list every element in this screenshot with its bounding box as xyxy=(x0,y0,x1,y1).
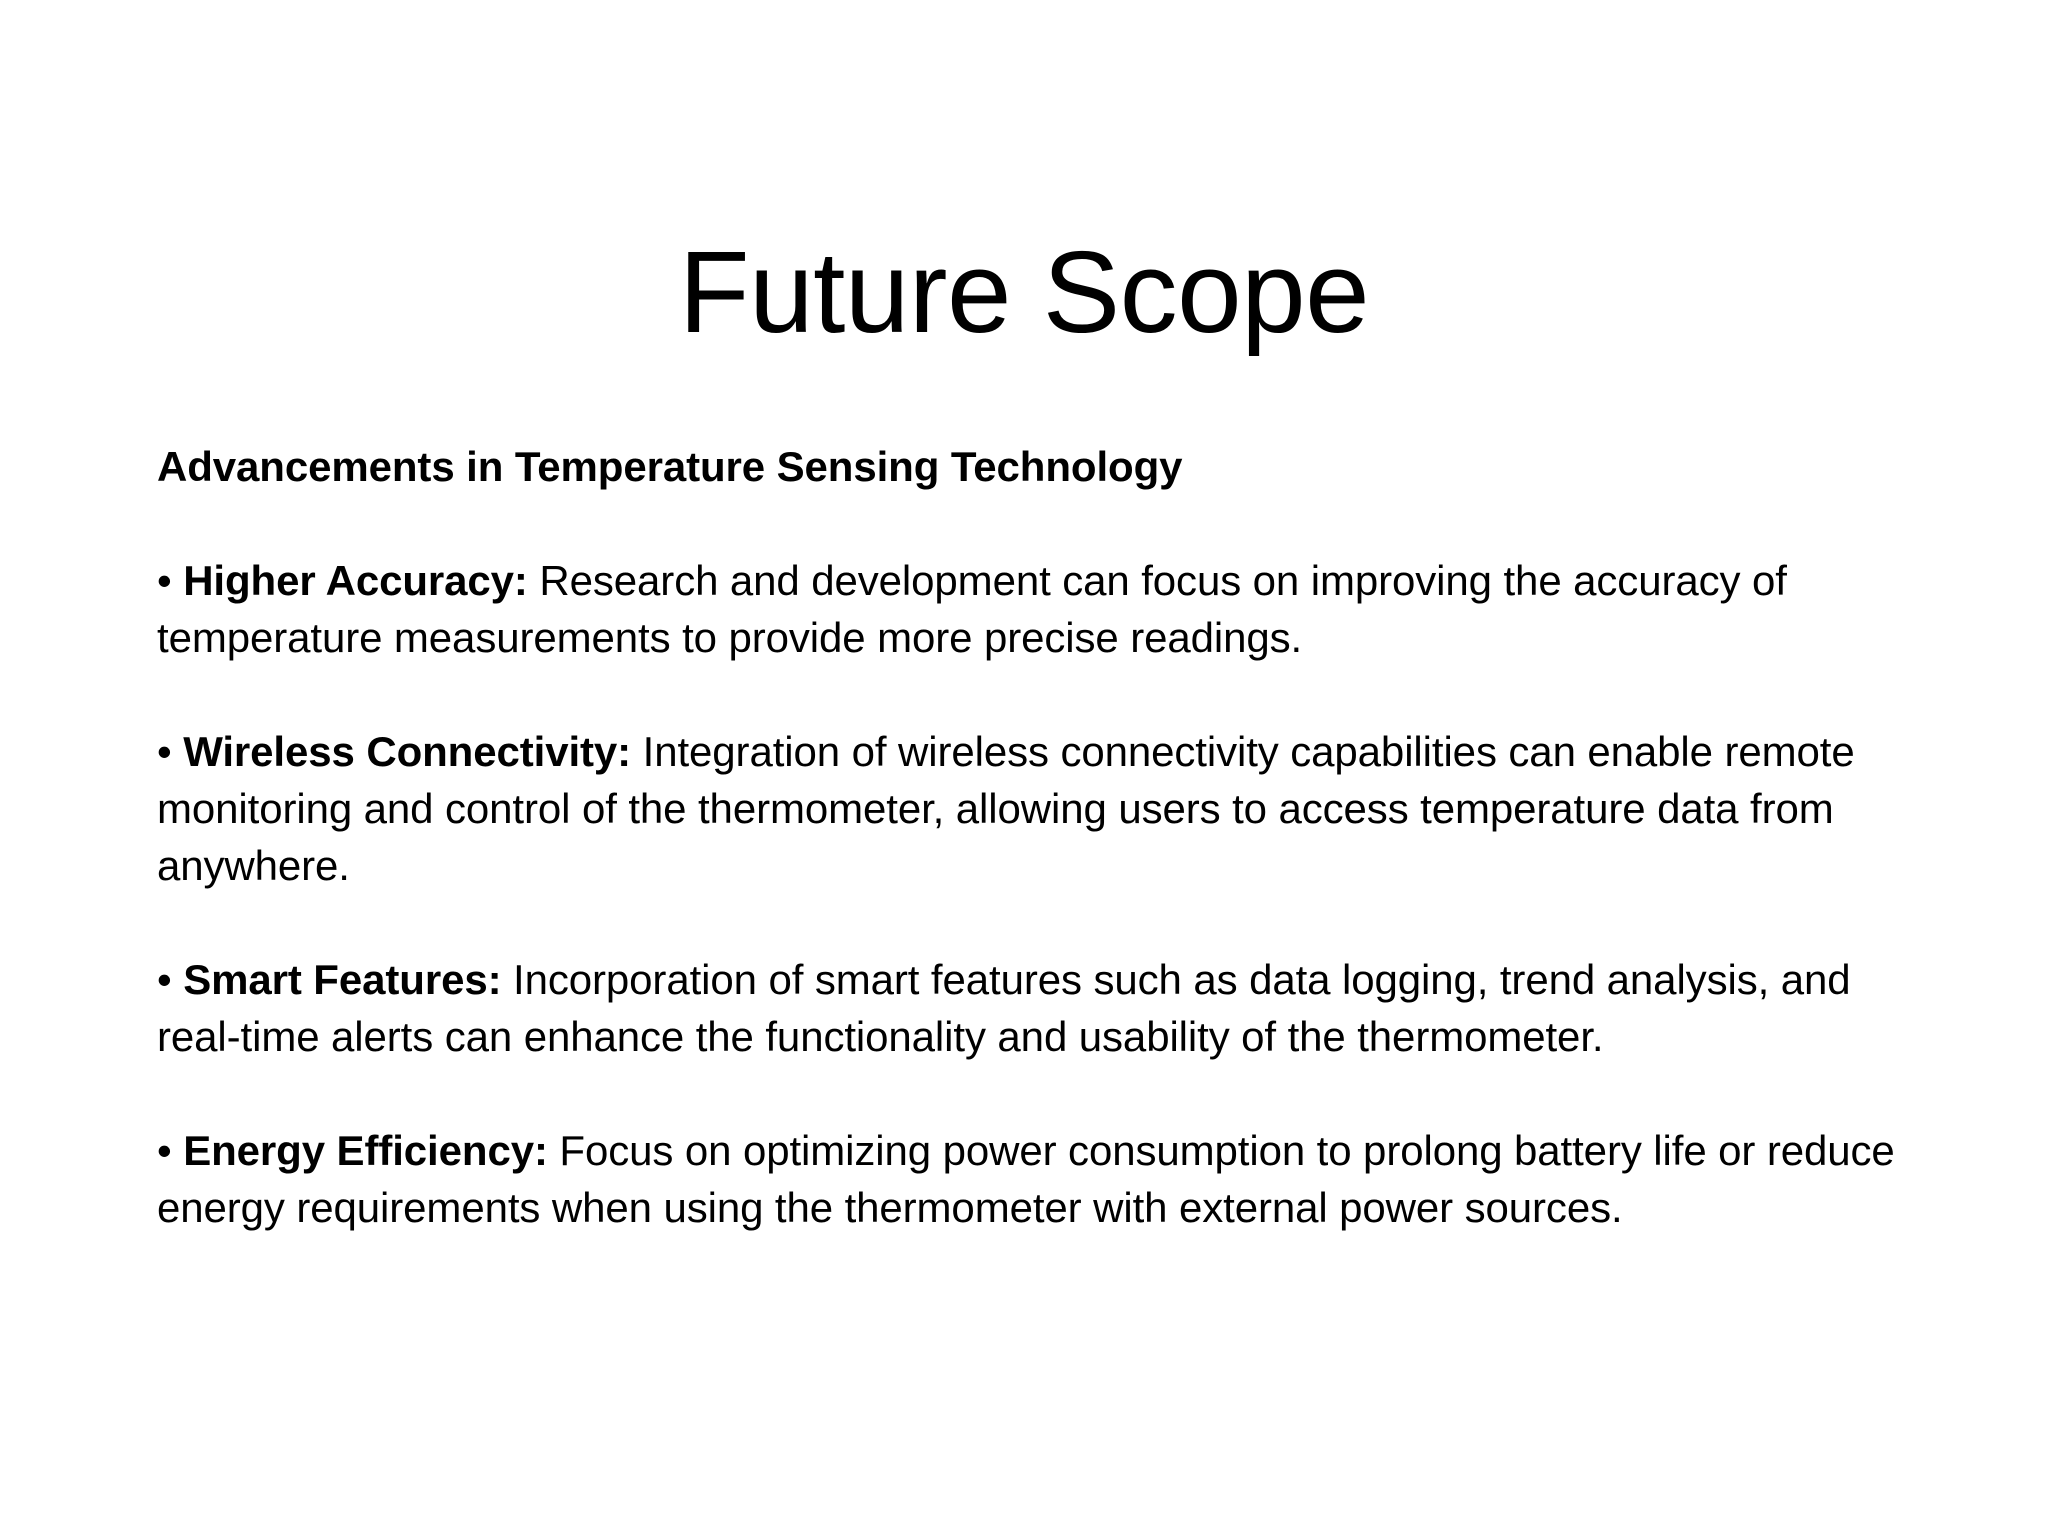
bullet-item-higher-accuracy: • Higher Accuracy: Research and developm… xyxy=(157,552,1939,666)
slide-body: Advancements in Temperature Sensing Tech… xyxy=(157,438,1939,1236)
bullet-lead-in: Smart Features: xyxy=(183,956,501,1003)
bullet-lead-in: Wireless Connectivity: xyxy=(183,728,631,775)
bullet-point-icon: • xyxy=(157,557,172,604)
bullet-lead-in: Energy Efficiency: xyxy=(183,1127,548,1174)
bullet-item-energy-efficiency: • Energy Efficiency: Focus on optimizing… xyxy=(157,1122,1939,1236)
bullet-point-icon: • xyxy=(157,956,172,1003)
bullet-item-smart-features: • Smart Features: Incorporation of smart… xyxy=(157,951,1939,1065)
bullet-point-icon: • xyxy=(157,1127,172,1174)
bullet-point-icon: • xyxy=(157,728,172,775)
body-section-heading: Advancements in Temperature Sensing Tech… xyxy=(157,438,1939,495)
bullet-item-wireless-connectivity: • Wireless Connectivity: Integration of … xyxy=(157,723,1939,894)
page-title: Future Scope xyxy=(0,228,2048,358)
bullet-lead-in: Higher Accuracy: xyxy=(183,557,528,604)
slide-canvas: Future Scope Advancements in Temperature… xyxy=(0,0,2048,1536)
